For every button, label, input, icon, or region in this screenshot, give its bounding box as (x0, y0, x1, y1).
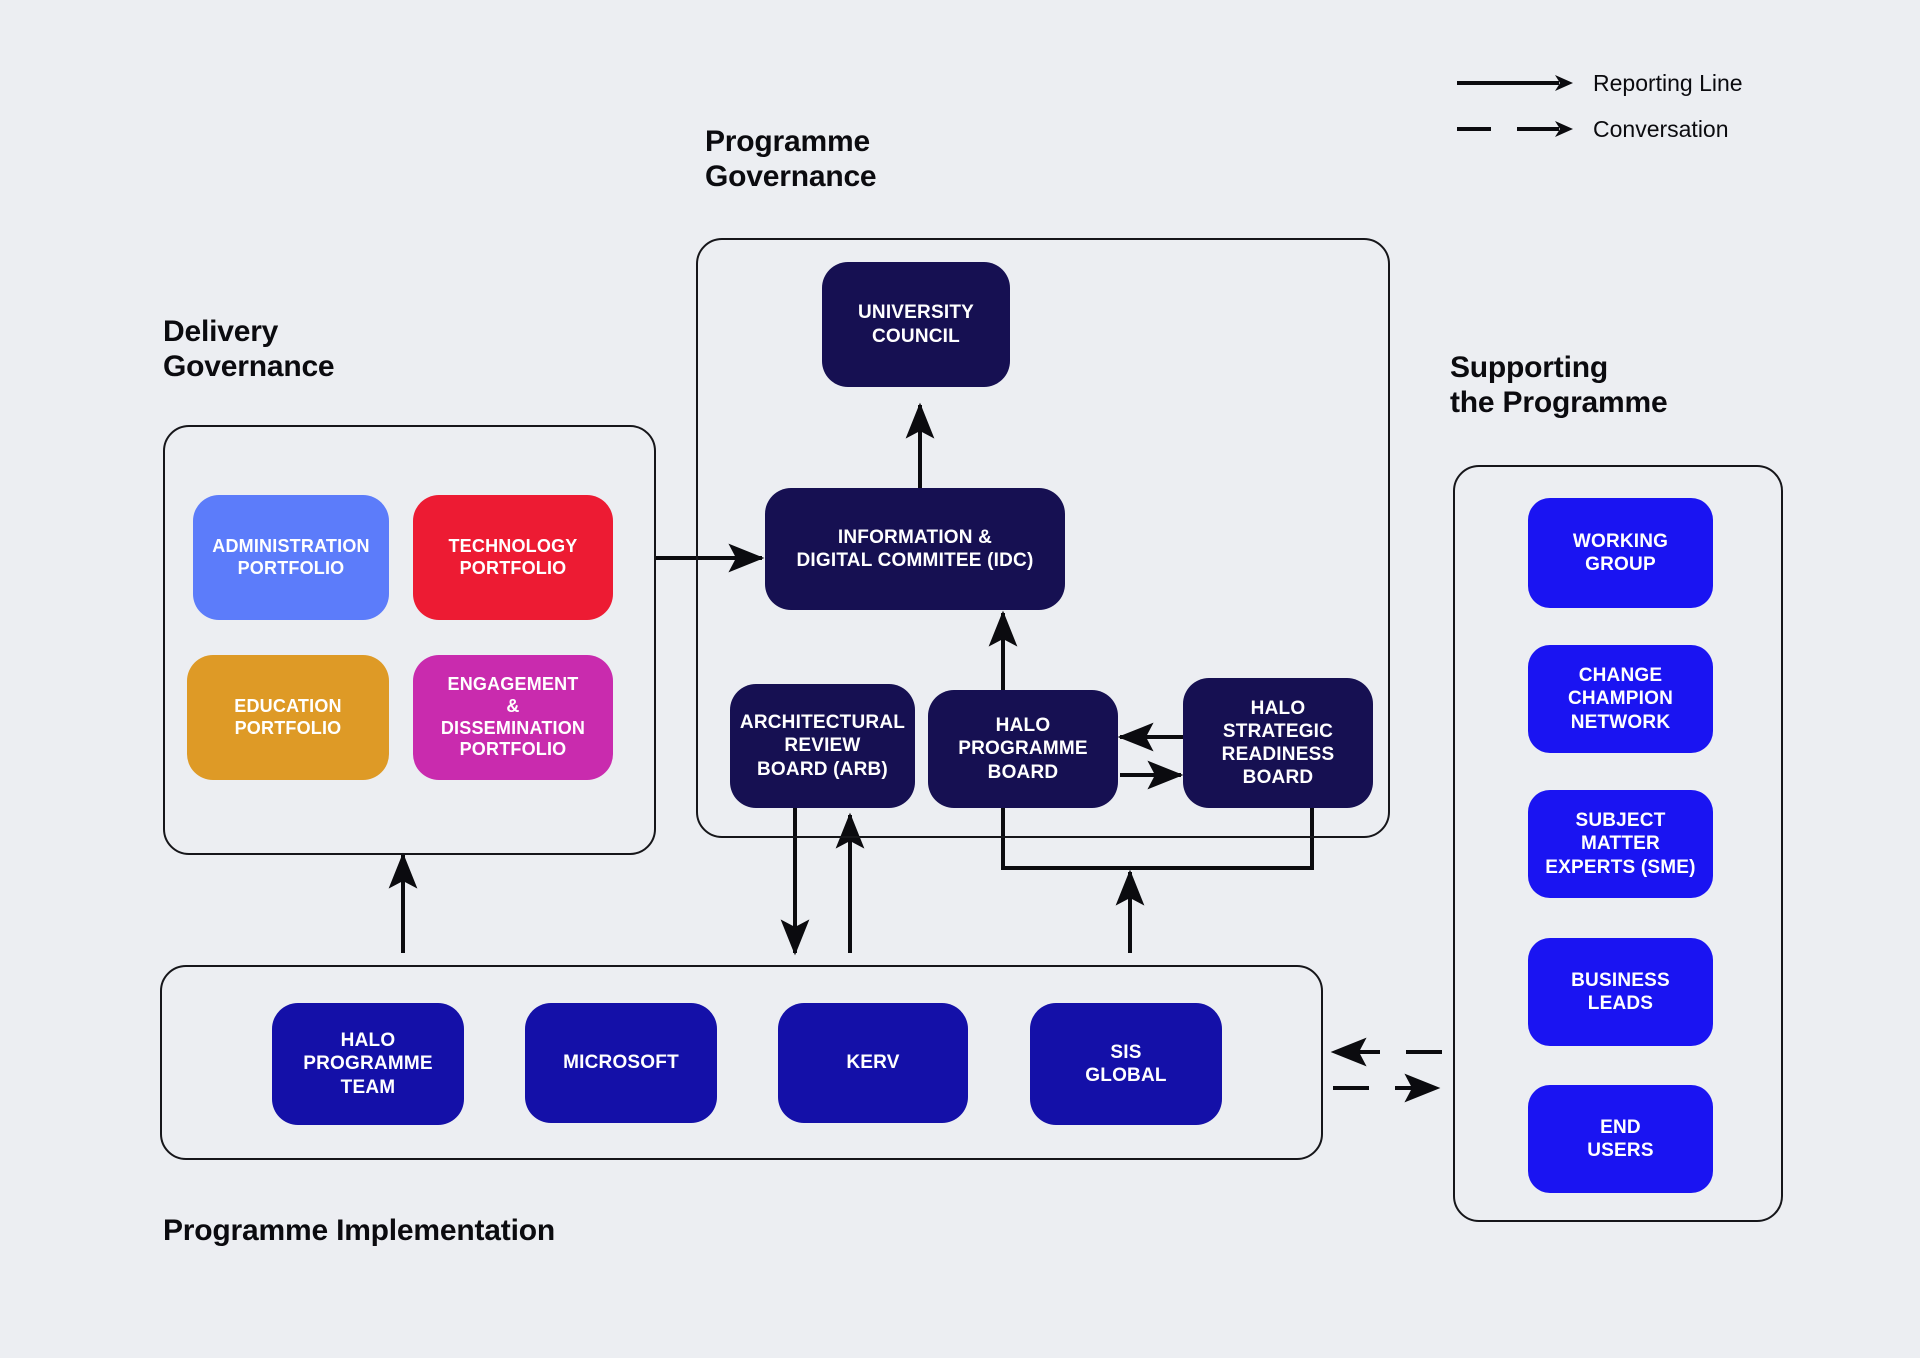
supporting-the-programme-title: Supporting the Programme (1450, 350, 1667, 421)
architectural-review-board[interactable]: ARCHITECTURAL REVIEW BOARD (ARB) (730, 684, 915, 808)
information-digital-committee[interactable]: INFORMATION & DIGITAL COMMITEE (IDC) (765, 488, 1065, 610)
legend-label-reporting-line: Reporting Line (1593, 70, 1743, 97)
university-council[interactable]: UNIVERSITY COUNCIL (822, 262, 1010, 387)
legend-label-conversation: Conversation (1593, 116, 1729, 143)
education-portfolio[interactable]: EDUCATION PORTFOLIO (187, 655, 389, 780)
change-champion-network[interactable]: CHANGE CHAMPION NETWORK (1528, 645, 1713, 753)
halo-strategic-readiness-board[interactable]: HALO STRATEGIC READINESS BOARD (1183, 678, 1373, 808)
engagement-dissemination-portfolio[interactable]: ENGAGEMENT & DISSEMINATION PORTFOLIO (413, 655, 613, 780)
technology-portfolio[interactable]: TECHNOLOGY PORTFOLIO (413, 495, 613, 620)
subject-matter-experts[interactable]: SUBJECT MATTER EXPERTS (SME) (1528, 790, 1713, 898)
kerv[interactable]: KERV (778, 1003, 968, 1123)
halo-programme-team[interactable]: HALO PROGRAMME TEAM (272, 1003, 464, 1125)
legend-item-reporting-line: Reporting Line (1455, 60, 1743, 106)
working-group[interactable]: WORKING GROUP (1528, 498, 1713, 608)
delivery-governance-container (163, 425, 656, 855)
programme-governance-title: Programme Governance (705, 124, 876, 195)
microsoft[interactable]: MICROSOFT (525, 1003, 717, 1123)
legend: Reporting Line Conversation (1455, 60, 1743, 152)
programme-implementation-title: Programme Implementation (163, 1213, 555, 1248)
administration-portfolio[interactable]: ADMINISTRATION PORTFOLIO (193, 495, 389, 620)
diagram-canvas: Reporting Line Conversation Delivery Gov… (0, 0, 1920, 1358)
dashed-arrow-right-icon (1455, 117, 1575, 141)
business-leads[interactable]: BUSINESS LEADS (1528, 938, 1713, 1046)
end-users[interactable]: END USERS (1528, 1085, 1713, 1193)
halo-programme-board[interactable]: HALO PROGRAMME BOARD (928, 690, 1118, 808)
arrow-right-icon (1455, 71, 1575, 95)
delivery-governance-title: Delivery Governance (163, 314, 334, 385)
sis-global[interactable]: SIS GLOBAL (1030, 1003, 1222, 1125)
legend-item-conversation: Conversation (1455, 106, 1743, 152)
